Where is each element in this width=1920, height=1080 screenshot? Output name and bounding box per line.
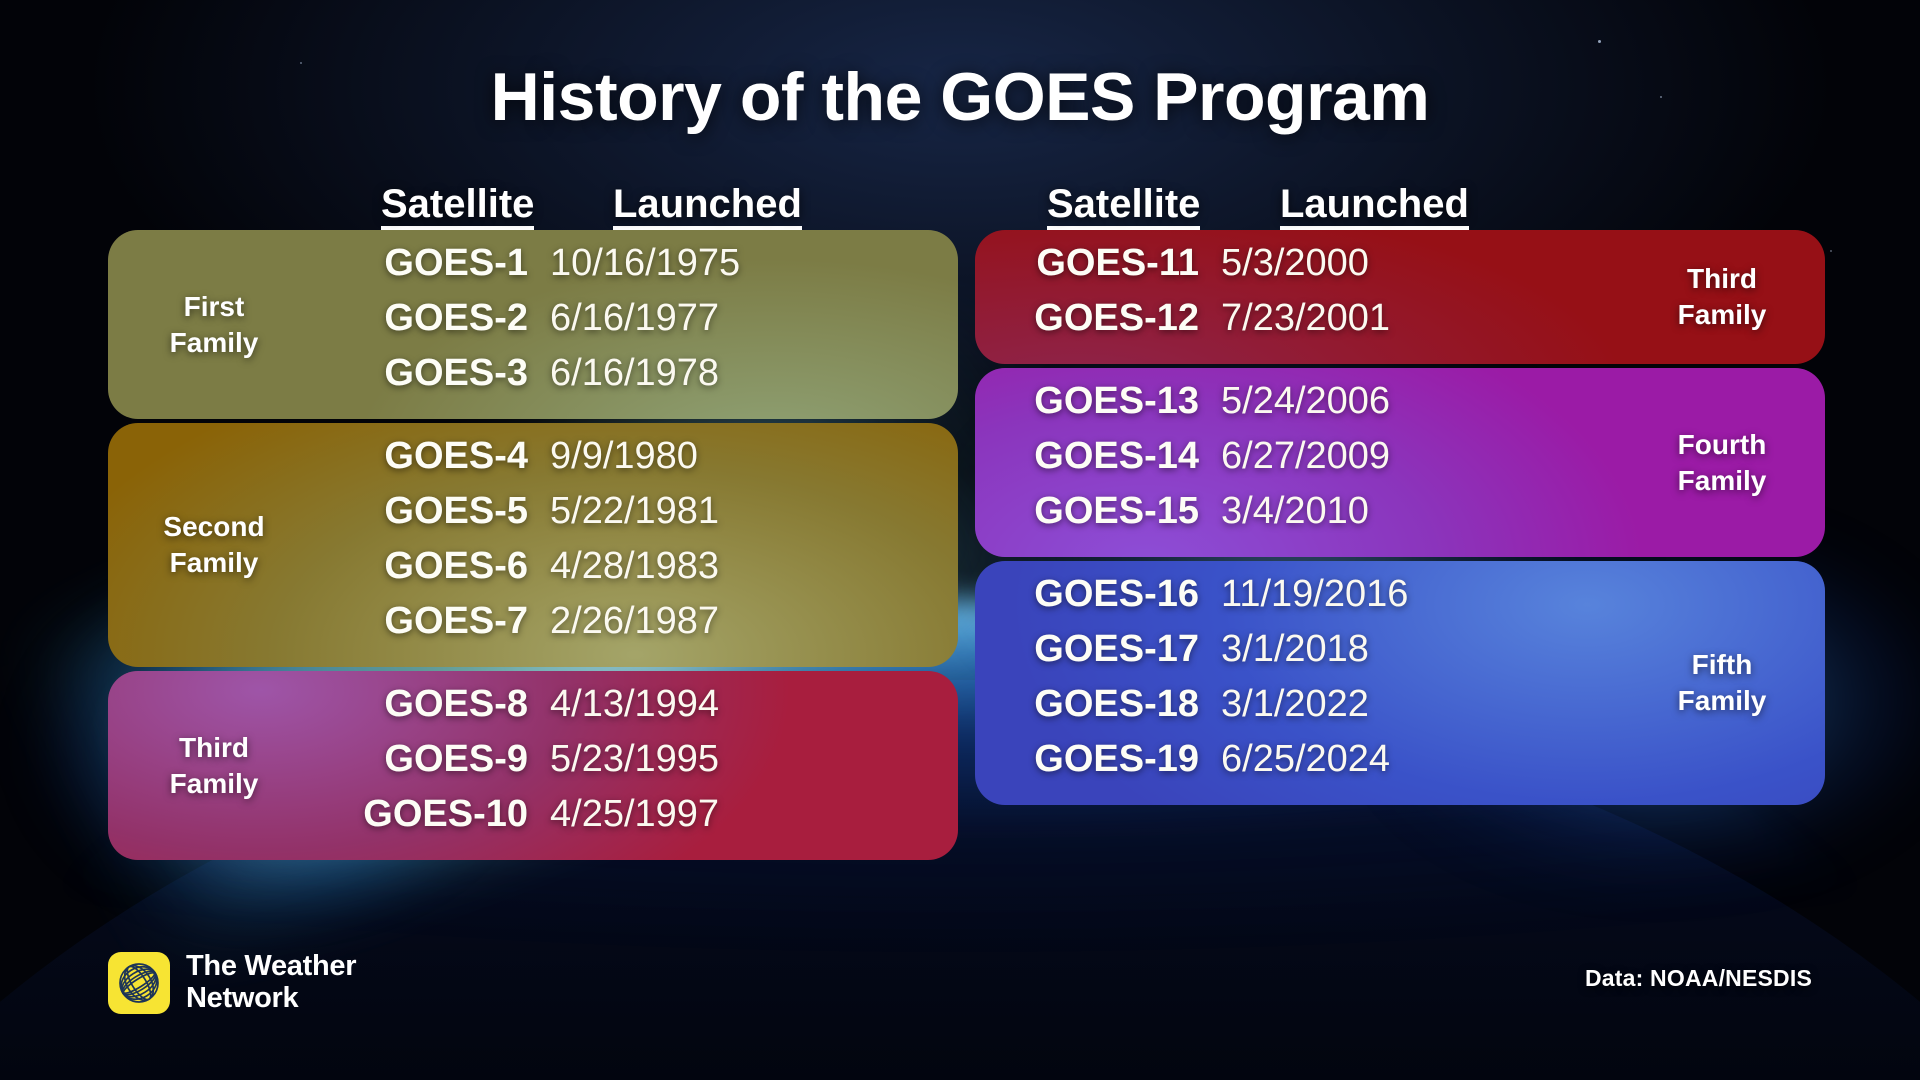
launch-date: 7/23/2001 bbox=[1221, 297, 1619, 340]
launch-date: 5/24/2006 bbox=[1221, 380, 1619, 423]
family-panel: SecondFamilyGOES-49/9/1980GOES-55/22/198… bbox=[108, 423, 958, 667]
satellite-name: GOES-19 bbox=[975, 738, 1221, 781]
family-panel-inner: ThirdFamilyGOES-115/3/2000GOES-127/23/20… bbox=[975, 230, 1825, 364]
launch-date: 6/16/1978 bbox=[550, 352, 958, 395]
satellite-name: GOES-3 bbox=[320, 352, 550, 395]
family-label-line-2: Family bbox=[108, 545, 320, 581]
family-label-line-2: Family bbox=[108, 766, 320, 802]
family-label-line-1: Third bbox=[108, 730, 320, 766]
header-satellite: Satellite bbox=[1047, 184, 1200, 230]
satellite-name: GOES-4 bbox=[320, 435, 550, 478]
launch-date: 11/19/2016 bbox=[1221, 573, 1619, 616]
family-label-line-2: Family bbox=[1619, 297, 1825, 333]
family-panel: FifthFamilyGOES-1611/19/2016GOES-173/1/2… bbox=[975, 561, 1825, 805]
logo-line-1: The Weather bbox=[186, 951, 356, 982]
family-panel-inner: FourthFamilyGOES-135/24/2006GOES-146/27/… bbox=[975, 368, 1825, 557]
satellite-name: GOES-7 bbox=[320, 600, 550, 643]
satellite-name: GOES-13 bbox=[975, 380, 1221, 423]
the-weather-network-logo[interactable]: The Weather Network bbox=[108, 951, 356, 1014]
satellite-name: GOES-2 bbox=[320, 297, 550, 340]
table-row: GOES-55/22/1981 bbox=[320, 490, 958, 545]
table-row: GOES-72/26/1987 bbox=[320, 600, 958, 655]
left-column-headers: Satellite Launched bbox=[108, 178, 958, 230]
family-panel: ThirdFamilyGOES-115/3/2000GOES-127/23/20… bbox=[975, 230, 1825, 364]
family-label-line-2: Family bbox=[108, 325, 320, 361]
family-rows: GOES-110/16/1975GOES-26/16/1977GOES-36/1… bbox=[320, 242, 958, 407]
logo-line-2: Network bbox=[186, 983, 356, 1014]
launch-date: 2/26/1987 bbox=[550, 600, 958, 643]
satellite-name: GOES-12 bbox=[975, 297, 1221, 340]
launch-date: 4/13/1994 bbox=[550, 683, 958, 726]
family-label-line-1: Fourth bbox=[1619, 427, 1825, 463]
family-label-line-1: Fifth bbox=[1619, 647, 1825, 683]
satellite-name: GOES-9 bbox=[320, 738, 550, 781]
family-label: FifthFamily bbox=[1619, 647, 1825, 719]
launch-date: 10/16/1975 bbox=[550, 242, 958, 285]
satellite-name: GOES-8 bbox=[320, 683, 550, 726]
star bbox=[1598, 40, 1601, 43]
infographic-canvas: History of the GOES Program Satellite La… bbox=[0, 0, 1920, 1080]
family-label: ThirdFamily bbox=[1619, 261, 1825, 333]
table-row: GOES-135/24/2006 bbox=[975, 380, 1619, 435]
table-row: GOES-49/9/1980 bbox=[320, 435, 958, 490]
family-label: SecondFamily bbox=[108, 509, 320, 581]
satellite-name: GOES-6 bbox=[320, 545, 550, 588]
launch-date: 4/25/1997 bbox=[550, 793, 958, 836]
launch-date: 4/28/1983 bbox=[550, 545, 958, 588]
satellite-name: GOES-17 bbox=[975, 628, 1221, 671]
family-panel-inner: FifthFamilyGOES-1611/19/2016GOES-173/1/2… bbox=[975, 561, 1825, 805]
family-label: FirstFamily bbox=[108, 289, 320, 361]
table-row: GOES-146/27/2009 bbox=[975, 435, 1619, 490]
launch-date: 3/4/2010 bbox=[1221, 490, 1619, 533]
table-row: GOES-183/1/2022 bbox=[975, 683, 1619, 738]
family-panel-inner: ThirdFamilyGOES-84/13/1994GOES-95/23/199… bbox=[108, 671, 958, 860]
table-row: GOES-36/16/1978 bbox=[320, 352, 958, 407]
family-label-line-1: Third bbox=[1619, 261, 1825, 297]
family-label: FourthFamily bbox=[1619, 427, 1825, 499]
satellite-name: GOES-18 bbox=[975, 683, 1221, 726]
family-rows: GOES-135/24/2006GOES-146/27/2009GOES-153… bbox=[975, 380, 1619, 545]
family-label-line-1: First bbox=[108, 289, 320, 325]
table-row: GOES-127/23/2001 bbox=[975, 297, 1619, 352]
family-rows: GOES-84/13/1994GOES-95/23/1995GOES-104/2… bbox=[320, 683, 958, 848]
family-label-line-2: Family bbox=[1619, 683, 1825, 719]
table-row: GOES-95/23/1995 bbox=[320, 738, 958, 793]
left-table: Satellite Launched FirstFamilyGOES-110/1… bbox=[108, 178, 958, 864]
satellite-name: GOES-1 bbox=[320, 242, 550, 285]
satellite-name: GOES-10 bbox=[320, 793, 550, 836]
right-column-headers: Satellite Launched bbox=[975, 178, 1825, 230]
family-label-line-2: Family bbox=[1619, 463, 1825, 499]
data-source-credit: Data: NOAA/NESDIS bbox=[1585, 965, 1812, 992]
family-rows: GOES-1611/19/2016GOES-173/1/2018GOES-183… bbox=[975, 573, 1619, 793]
launch-date: 3/1/2018 bbox=[1221, 628, 1619, 671]
family-panel-inner: SecondFamilyGOES-49/9/1980GOES-55/22/198… bbox=[108, 423, 958, 667]
table-row: GOES-110/16/1975 bbox=[320, 242, 958, 297]
header-launched: Launched bbox=[613, 184, 802, 230]
launch-date: 5/3/2000 bbox=[1221, 242, 1619, 285]
table-row: GOES-196/25/2024 bbox=[975, 738, 1619, 793]
launch-date: 6/25/2024 bbox=[1221, 738, 1619, 781]
launch-date: 5/23/1995 bbox=[550, 738, 958, 781]
table-row: GOES-173/1/2018 bbox=[975, 628, 1619, 683]
launch-date: 6/27/2009 bbox=[1221, 435, 1619, 478]
family-rows: GOES-115/3/2000GOES-127/23/2001 bbox=[975, 242, 1619, 352]
table-row: GOES-104/25/1997 bbox=[320, 793, 958, 848]
table-row: GOES-115/3/2000 bbox=[975, 242, 1619, 297]
launch-date: 5/22/1981 bbox=[550, 490, 958, 533]
right-table: Satellite Launched ThirdFamilyGOES-115/3… bbox=[975, 178, 1825, 809]
table-row: GOES-26/16/1977 bbox=[320, 297, 958, 352]
family-panel-inner: FirstFamilyGOES-110/16/1975GOES-26/16/19… bbox=[108, 230, 958, 419]
satellite-name: GOES-11 bbox=[975, 242, 1221, 285]
launch-date: 3/1/2022 bbox=[1221, 683, 1619, 726]
family-rows: GOES-49/9/1980GOES-55/22/1981GOES-64/28/… bbox=[320, 435, 958, 655]
satellite-name: GOES-15 bbox=[975, 490, 1221, 533]
launch-date: 9/9/1980 bbox=[550, 435, 958, 478]
globe-swirl-icon bbox=[108, 952, 170, 1014]
page-title: History of the GOES Program bbox=[0, 58, 1920, 136]
launch-date: 6/16/1977 bbox=[550, 297, 958, 340]
family-label-line-1: Second bbox=[108, 509, 320, 545]
table-row: GOES-84/13/1994 bbox=[320, 683, 958, 738]
family-panel: FirstFamilyGOES-110/16/1975GOES-26/16/19… bbox=[108, 230, 958, 419]
table-row: GOES-153/4/2010 bbox=[975, 490, 1619, 545]
header-launched: Launched bbox=[1280, 184, 1469, 230]
family-label: ThirdFamily bbox=[108, 730, 320, 802]
family-panel: ThirdFamilyGOES-84/13/1994GOES-95/23/199… bbox=[108, 671, 958, 860]
header-satellite: Satellite bbox=[381, 184, 534, 230]
family-panel: FourthFamilyGOES-135/24/2006GOES-146/27/… bbox=[975, 368, 1825, 557]
satellite-name: GOES-14 bbox=[975, 435, 1221, 478]
satellite-name: GOES-16 bbox=[975, 573, 1221, 616]
table-row: GOES-1611/19/2016 bbox=[975, 573, 1619, 628]
logo-wordmark: The Weather Network bbox=[186, 951, 356, 1014]
satellite-name: GOES-5 bbox=[320, 490, 550, 533]
table-row: GOES-64/28/1983 bbox=[320, 545, 958, 600]
star bbox=[1830, 250, 1832, 252]
